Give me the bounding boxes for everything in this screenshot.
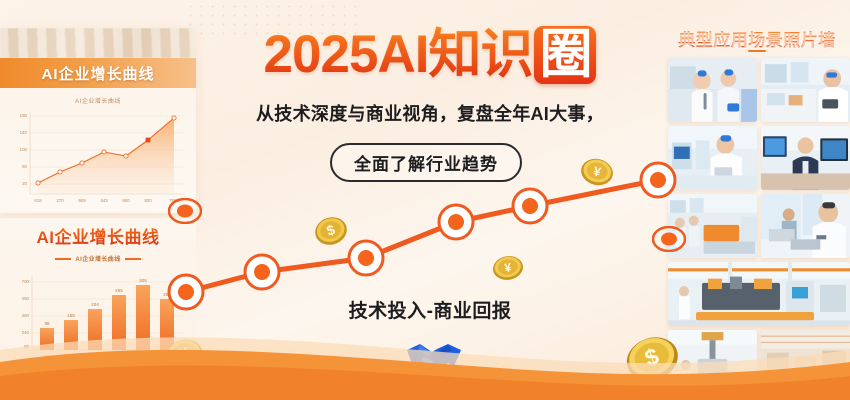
svg-text:909: 909 — [78, 198, 86, 203]
panel-b-legend: AI企业增长曲线 — [0, 254, 196, 263]
svg-text:618: 618 — [34, 198, 42, 203]
panel-a-title: AI企业增长曲线 — [41, 63, 154, 84]
svg-text:265: 265 — [115, 288, 123, 293]
coin-yen-upper: ¥ — [580, 155, 614, 189]
svg-text:443: 443 — [100, 198, 108, 203]
legend-label: AI企业增长曲线 — [75, 254, 120, 263]
bottom-wave-band — [0, 310, 850, 400]
coin-yen-mid: ¥ — [492, 252, 524, 284]
dot-mark-lower — [652, 226, 686, 252]
legend-swatch — [55, 258, 71, 260]
photo-wall-title: 典型应用场景照片墙 — [664, 26, 850, 51]
coin-dollar-mid: $ — [314, 214, 348, 248]
page-title-main: 2025AI知识 — [264, 25, 533, 84]
svg-text:700: 700 — [22, 279, 30, 284]
photo-wall-rule — [748, 50, 766, 52]
photo-doctors-briefing[interactable] — [668, 58, 757, 122]
svg-text:450: 450 — [22, 296, 30, 301]
panel-photo-strip — [0, 28, 196, 58]
svg-text:60: 60 — [22, 164, 27, 169]
legend-swatch-right — [125, 258, 141, 260]
panel-b-title: AI企业增长曲线 — [37, 223, 160, 248]
page-title-boxed-char: 圈 — [534, 26, 596, 84]
photo-lab-equipment[interactable] — [761, 58, 850, 122]
svg-text:180: 180 — [20, 113, 28, 118]
svg-text:600: 600 — [122, 198, 130, 203]
svg-text:20: 20 — [22, 181, 27, 186]
svg-text:100: 100 — [20, 147, 28, 152]
svg-text:265: 265 — [163, 292, 171, 297]
panel-b-header: AI企业增长曲线 — [0, 218, 196, 252]
poster-canvas: AI企业增长曲线 AI企业增长曲线 — [0, 0, 850, 400]
dot-mark-upper — [168, 198, 202, 224]
page-title: 2025AI知识圈 — [196, 26, 664, 84]
svg-text:140: 140 — [20, 130, 28, 135]
photo-clinician-tablet[interactable] — [668, 126, 757, 190]
svg-text:270: 270 — [56, 198, 64, 203]
panel-a-chart: 180 140 100 60 20 618 270 909 — [8, 104, 188, 208]
panel-a-header: AI企业增长曲线 — [0, 58, 196, 88]
panel-growth-curve-line: AI企业增长曲线 AI企业增长曲线 — [0, 28, 196, 213]
page-subtitle: 从技术深度与商业视角，复盘全年AI大事， — [196, 100, 664, 126]
svg-text:204: 204 — [91, 302, 99, 307]
svg-text:920: 920 — [144, 198, 152, 203]
trend-pill-button[interactable]: 全面了解行业趋势 — [330, 143, 522, 182]
svg-text:305: 305 — [139, 278, 147, 283]
photo-office-workstation[interactable] — [761, 126, 850, 190]
photo-engineer-laptop[interactable] — [761, 194, 850, 258]
